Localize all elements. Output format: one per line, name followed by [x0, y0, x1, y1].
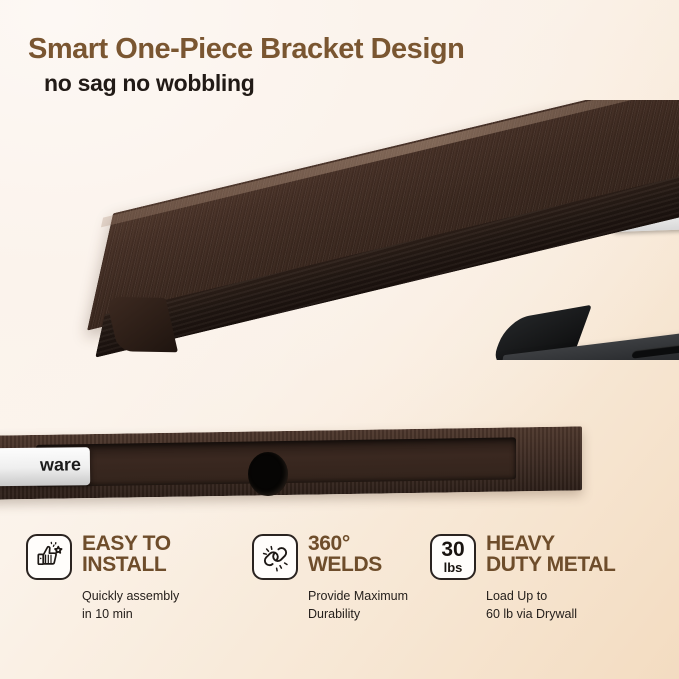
- hardware-label-card: ware: [0, 447, 90, 487]
- feature-heavy-duty-metal: 30 lbs HEAVY DUTY METAL Load Up to 60 lb…: [430, 532, 679, 652]
- hardware-label-text: ware: [40, 454, 81, 475]
- feature-description-line2: Durability: [308, 607, 360, 621]
- feature-title-line2: WELDS: [308, 554, 382, 575]
- feature-description: Provide Maximum Durability: [308, 588, 430, 624]
- feature-360-welds: 360° WELDS Provide Maximum Durability: [240, 532, 430, 652]
- bracket-slot: [631, 344, 679, 359]
- feature-heading: 360° WELDS: [252, 532, 430, 580]
- feature-title-line2: DUTY METAL: [486, 554, 615, 575]
- feature-description-line2: 60 lb via Drywall: [486, 607, 577, 621]
- feature-title: 360° WELDS: [308, 532, 382, 576]
- feature-description-line1: Quickly assembly: [82, 589, 179, 603]
- feature-description-line1: Load Up to: [486, 589, 547, 603]
- weld-chain-link-icon: [252, 534, 298, 580]
- feature-title: HEAVY DUTY METAL: [486, 532, 615, 576]
- feature-description: Quickly assembly in 10 min: [82, 588, 240, 624]
- feature-easy-to-install: EASY TO INSTALL Quickly assembly in 10 m…: [0, 532, 240, 652]
- feature-title-line1: 360°: [308, 532, 350, 555]
- shelf-underside-photo: ware: [0, 404, 679, 516]
- feature-title: EASY TO INSTALL: [82, 532, 171, 576]
- feature-list: EASY TO INSTALL Quickly assembly in 10 m…: [0, 532, 679, 652]
- weight-capacity-unit: lbs: [444, 561, 463, 574]
- feature-title-line1: HEAVY: [486, 532, 555, 555]
- thumbs-up-star-icon: [26, 534, 72, 580]
- page-title: Smart One-Piece Bracket Design: [28, 33, 464, 66]
- feature-title-line2: INSTALL: [82, 554, 171, 575]
- feature-heading: EASY TO INSTALL: [26, 532, 240, 580]
- weight-capacity-icon: 30 lbs: [430, 534, 476, 580]
- feature-title-line1: EASY TO: [82, 532, 171, 555]
- page-subtitle: no sag no wobbling: [44, 70, 255, 97]
- feature-description-line2: in 10 min: [82, 607, 133, 621]
- weight-capacity-number: 30: [441, 539, 464, 560]
- header: Smart One-Piece Bracket Design no sag no…: [0, 0, 679, 110]
- feature-heading: 30 lbs HEAVY DUTY METAL: [430, 532, 679, 580]
- hero-product-photo: Ins: [0, 100, 679, 360]
- shelf-mounting-hole: [248, 452, 288, 496]
- feature-description: Load Up to 60 lb via Drywall: [486, 588, 679, 624]
- feature-description-line1: Provide Maximum: [308, 589, 408, 603]
